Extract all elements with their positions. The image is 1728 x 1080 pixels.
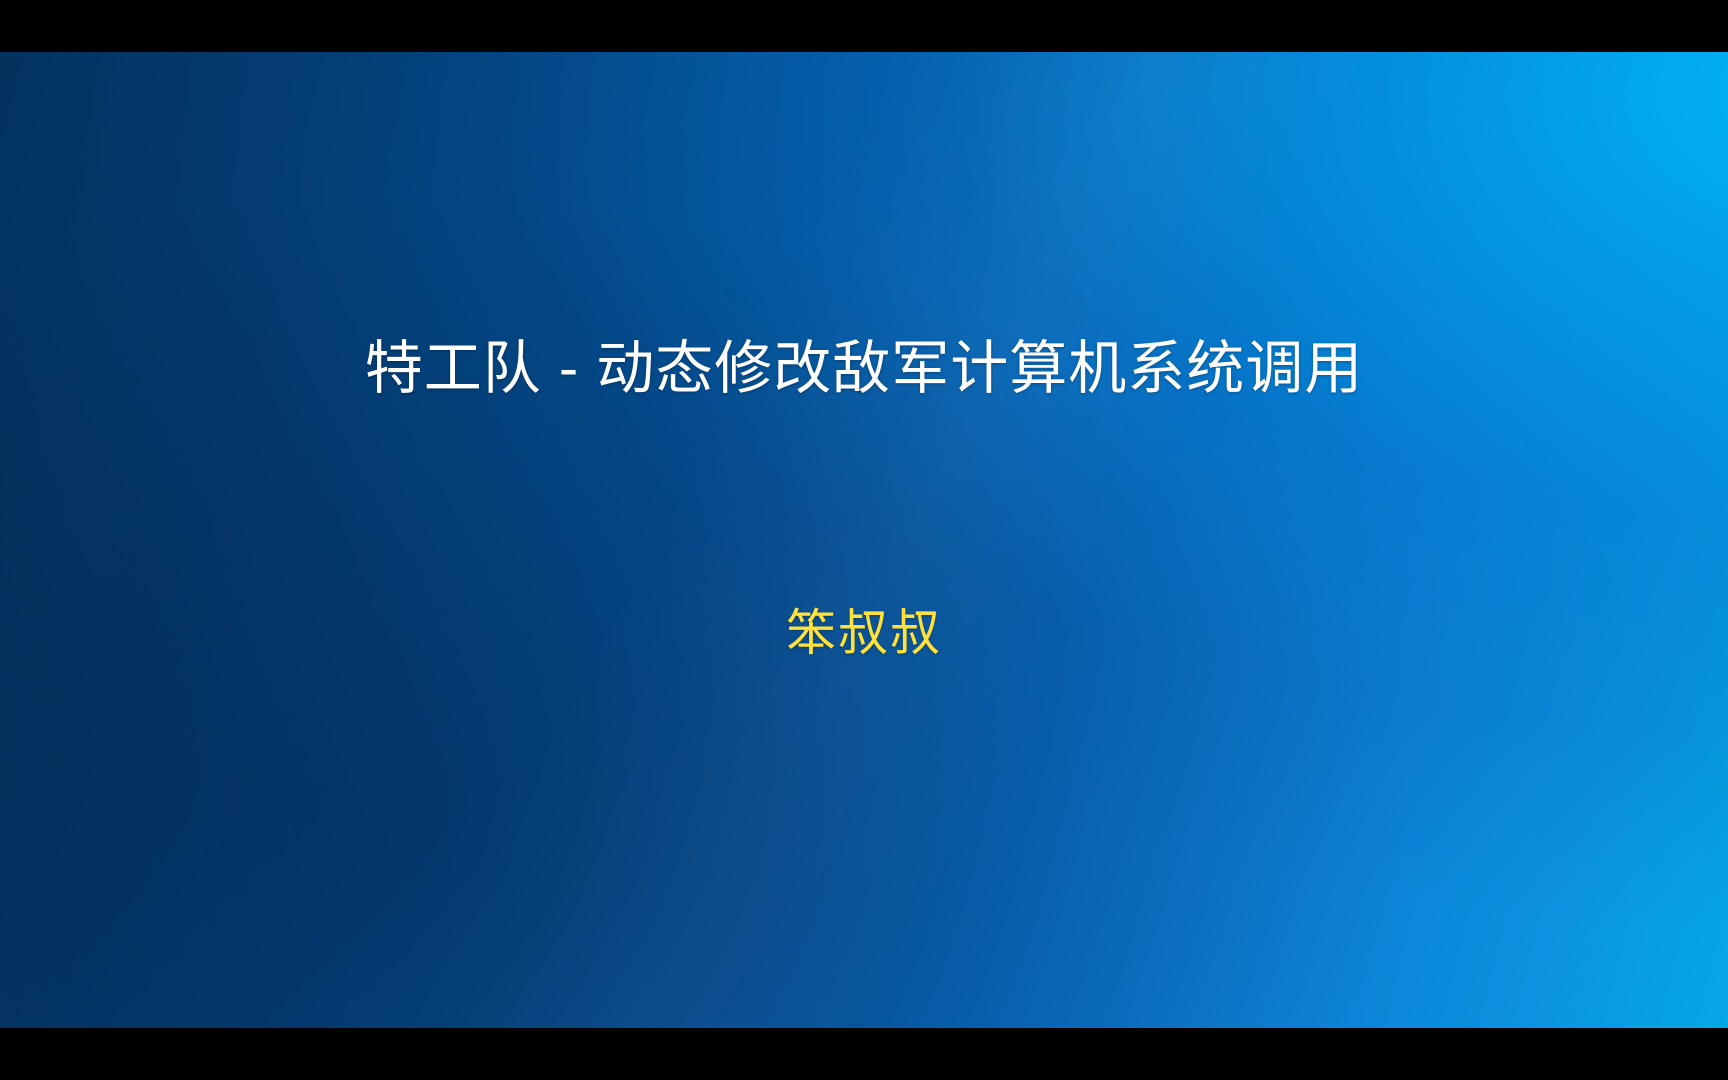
slide-title: 特工队 - 动态修改敌军计算机系统调用 bbox=[0, 334, 1728, 404]
slide-content: 特工队 - 动态修改敌军计算机系统调用 笨叔叔 bbox=[0, 52, 1728, 1028]
slide-canvas: 特工队 - 动态修改敌军计算机系统调用 笨叔叔 bbox=[0, 52, 1728, 1028]
presentation-slide: 特工队 - 动态修改敌军计算机系统调用 笨叔叔 bbox=[0, 0, 1728, 1080]
letterbox-bar-bottom bbox=[0, 1028, 1728, 1080]
letterbox-bar-top bbox=[0, 0, 1728, 52]
slide-subtitle-author: 笨叔叔 bbox=[0, 603, 1728, 663]
